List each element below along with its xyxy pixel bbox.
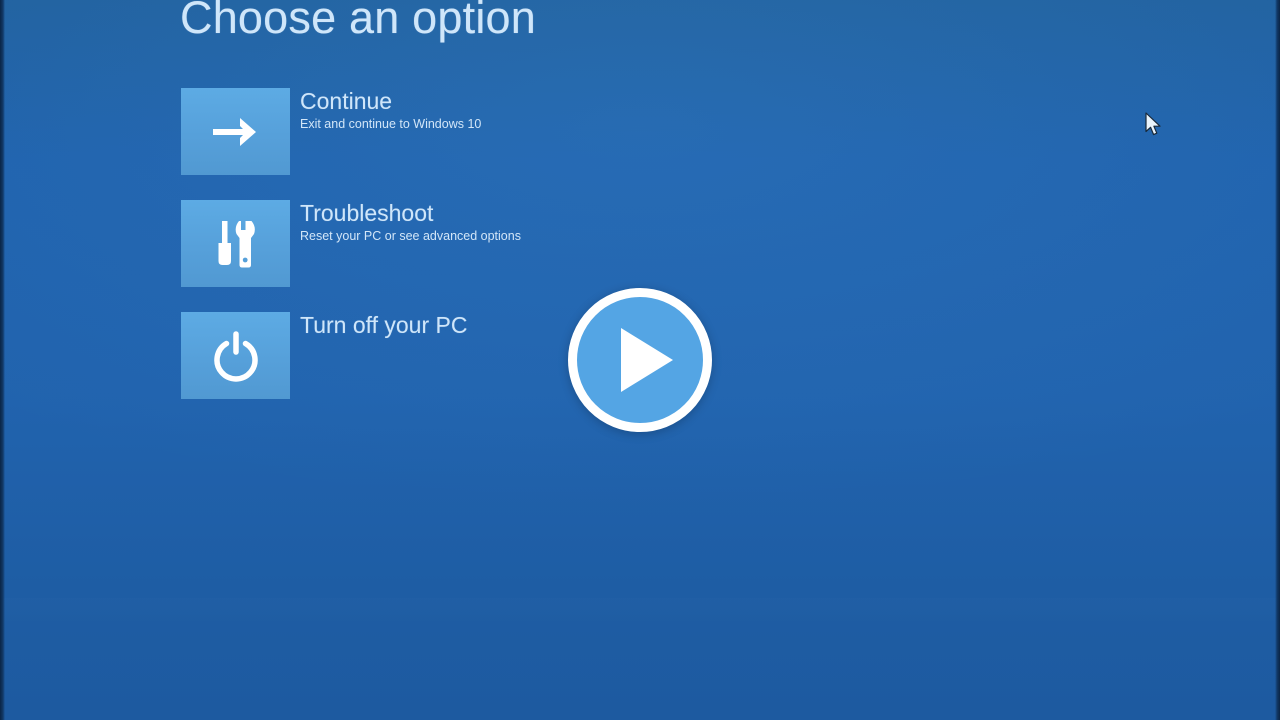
option-tile-continue[interactable] <box>181 88 290 175</box>
power-icon <box>210 330 262 382</box>
option-tile-turn-off[interactable] <box>181 312 290 399</box>
option-title-turn-off: Turn off your PC <box>300 312 467 338</box>
option-tile-troubleshoot[interactable] <box>181 200 290 287</box>
option-subtitle-continue: Exit and continue to Windows 10 <box>300 117 481 132</box>
option-text-troubleshoot: Troubleshoot Reset your PC or see advanc… <box>300 200 521 244</box>
play-icon <box>621 328 673 392</box>
play-button[interactable] <box>568 288 712 432</box>
option-title-troubleshoot: Troubleshoot <box>300 200 521 226</box>
option-text-turn-off: Turn off your PC <box>300 312 467 338</box>
recovery-environment-screen: Choose an option Continue Exit and conti… <box>0 0 1280 720</box>
option-title-continue: Continue <box>300 88 481 114</box>
screwdriver-wrench-icon <box>211 218 261 270</box>
option-item-continue[interactable]: Continue Exit and continue to Windows 10 <box>181 88 981 175</box>
page-title: Choose an option <box>180 0 536 44</box>
option-subtitle-troubleshoot: Reset your PC or see advanced options <box>300 229 521 244</box>
option-item-troubleshoot[interactable]: Troubleshoot Reset your PC or see advanc… <box>181 200 981 287</box>
arrow-right-icon <box>210 112 262 152</box>
option-text-continue: Continue Exit and continue to Windows 10 <box>300 88 481 132</box>
